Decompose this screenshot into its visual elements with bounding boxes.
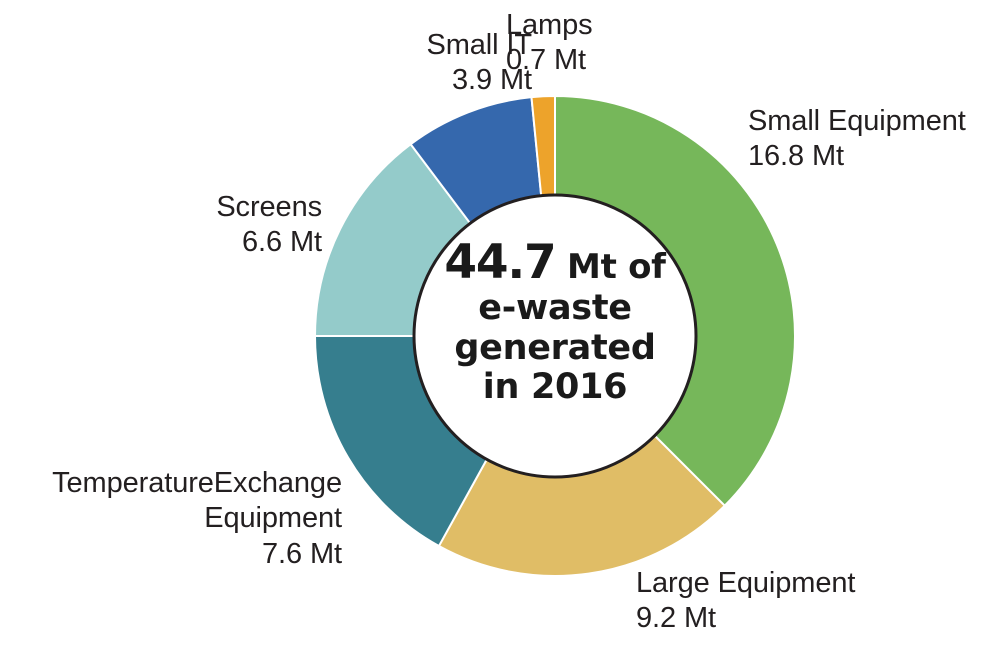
slice-label-large-equipment: Large Equipment 9.2 Mt (636, 566, 896, 637)
center-line-2: e-waste (404, 289, 706, 329)
donut-center-text: 44.7 Mt of e-waste generated in 2016 (404, 236, 706, 408)
slice-label-small-it: Small IT 3.9 Mt (352, 28, 532, 99)
slice-label-small-equipment: Small Equipment 16.8 Mt (748, 104, 1008, 175)
center-line-3: generated (404, 329, 706, 369)
center-unit-text: Mt of (556, 247, 666, 287)
slice-label-lamps: Lamps 0.7 Mt (506, 8, 671, 79)
slice-label-screens: Screens 6.6 Mt (118, 190, 322, 261)
slice-label-temperature-exchange-equipment: TemperatureExchange Equipment 7.6 Mt (8, 466, 342, 572)
center-line-4: in 2016 (404, 368, 706, 408)
center-big-number: 44.7 (444, 235, 555, 290)
donut-chart: 44.7 Mt of e-waste generated in 2016 Sma… (0, 0, 1008, 662)
